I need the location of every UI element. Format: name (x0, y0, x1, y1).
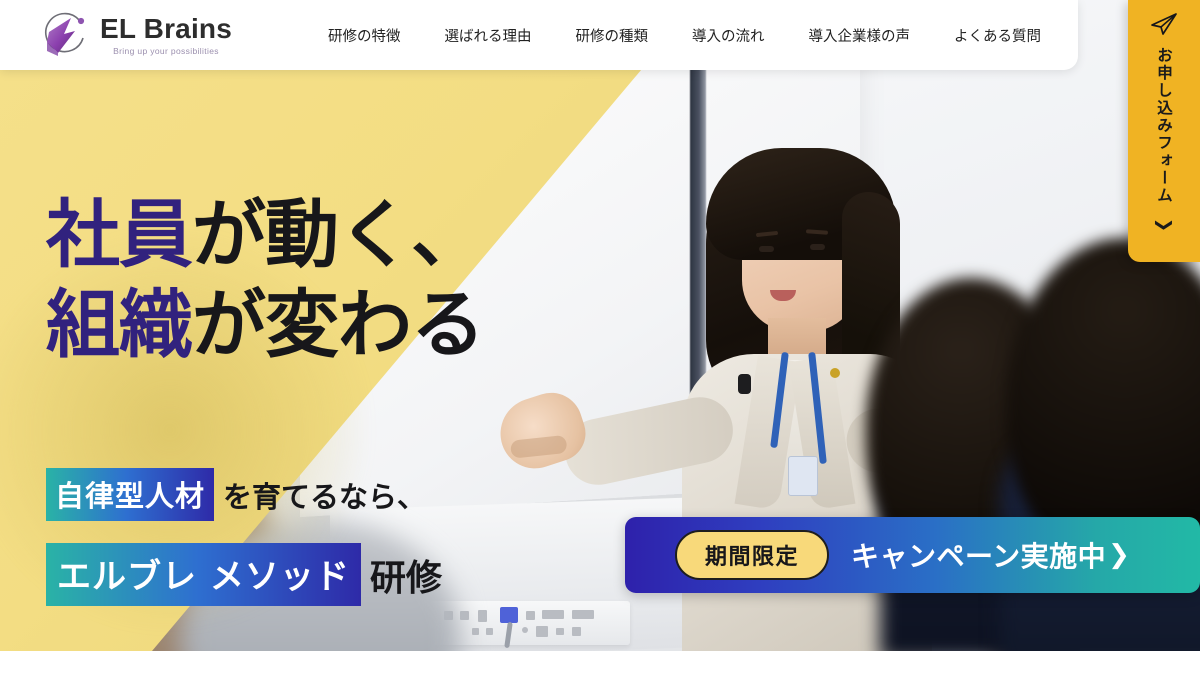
nav-features[interactable]: 研修の特徴 (306, 19, 423, 52)
subheadline-row-2: エルブレ メソッド 研修 (46, 543, 442, 606)
headline-plain-2: が変わる (192, 282, 484, 368)
lapel-microphone (738, 374, 751, 394)
hero-headline-line-2: 組織が変わる (46, 280, 484, 370)
subheadline-row-1: 自律型人材 を育てるなら、 (46, 468, 442, 521)
subheadline-tail-1: を育てるなら、 (223, 474, 426, 516)
site-header: EL Brains Bring up your possibilities 研修… (0, 0, 1078, 70)
headline-accent-2: 組織 (46, 282, 192, 368)
nav-types[interactable]: 研修の種類 (554, 19, 671, 52)
paper-plane-icon (1150, 12, 1178, 41)
headline-plain-1: が動く、 (192, 192, 484, 278)
chip-elbure-method: エルブレ メソッド (46, 543, 361, 606)
main-nav: 研修の特徴 選ばれる理由 研修の種類 導入の流れ 導入企業様の声 よくある質問 (306, 19, 1063, 52)
projector-plug (500, 607, 518, 623)
page-root: EL Brains Bring up your possibilities 研修… (0, 0, 1200, 673)
projector-cable (504, 622, 513, 648)
projector-device (430, 601, 630, 645)
headline-accent-1: 社員 (46, 192, 192, 278)
logo-name: EL Brains (100, 15, 232, 43)
hero-headline: 社員が動く、 組織が変わる (46, 190, 484, 371)
nav-voices[interactable]: 導入企業様の声 (787, 19, 933, 52)
chip-autonomous-talent: 自律型人材 (46, 468, 214, 521)
nav-faq[interactable]: よくある質問 (932, 19, 1063, 52)
chevron-right-icon: ❯ (1108, 540, 1130, 570)
logo[interactable]: EL Brains Bring up your possibilities (38, 11, 232, 59)
limited-time-badge: 期間限定 (675, 530, 829, 580)
nav-reasons[interactable]: 選ばれる理由 (423, 19, 554, 52)
hero-headline-line-1: 社員が動く、 (46, 190, 484, 280)
application-form-tab[interactable]: お申し込みフォーム ❯ (1128, 0, 1200, 262)
campaign-label: キャンペーン実施中 (851, 535, 1106, 575)
nav-flow[interactable]: 導入の流れ (670, 19, 787, 52)
logo-tagline: Bring up your possibilities (100, 47, 232, 56)
application-form-label: お申し込みフォーム (1153, 47, 1175, 205)
subheadline-tail-2: 研修 (370, 549, 442, 601)
page-bottom-spacer (0, 651, 1200, 673)
hero-subheadline: 自律型人材 を育てるなら、 エルブレ メソッド 研修 (46, 468, 442, 628)
el-brains-swoosh-icon (38, 11, 92, 59)
campaign-banner[interactable]: 期間限定 キャンペーン実施中 ❯ (625, 517, 1200, 593)
chevron-right-icon: ❯ (1154, 217, 1174, 231)
campaign-text-wrap: キャンペーン実施中 ❯ (851, 535, 1130, 575)
